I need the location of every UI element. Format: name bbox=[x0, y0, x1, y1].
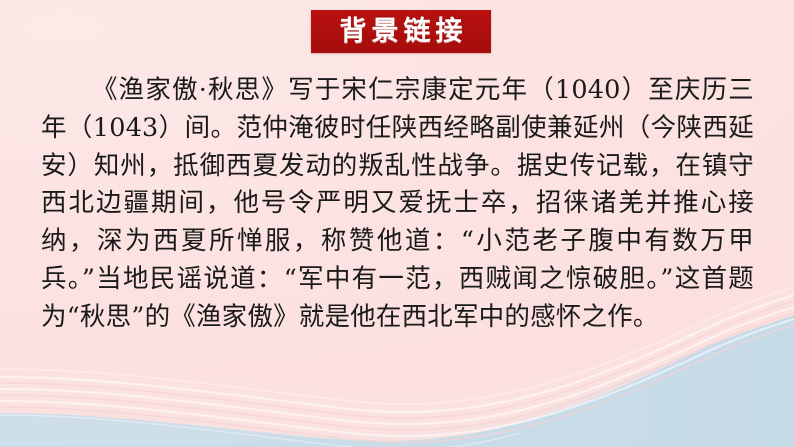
title-banner: 背景链接 bbox=[311, 10, 491, 53]
content-block: 《渔家傲·秋思》写于宋仁宗康定元年（1040）至庆历三年（1043）间。范仲淹彼… bbox=[41, 72, 754, 337]
background-paragraph: 《渔家傲·秋思》写于宋仁宗康定元年（1040）至庆历三年（1043）间。范仲淹彼… bbox=[41, 72, 754, 337]
page-title: 背景链接 bbox=[335, 18, 468, 45]
slide-canvas: 背景链接 《渔家傲·秋思》写于宋仁宗康定元年（1040）至庆历三年（1043）间… bbox=[0, 0, 794, 447]
